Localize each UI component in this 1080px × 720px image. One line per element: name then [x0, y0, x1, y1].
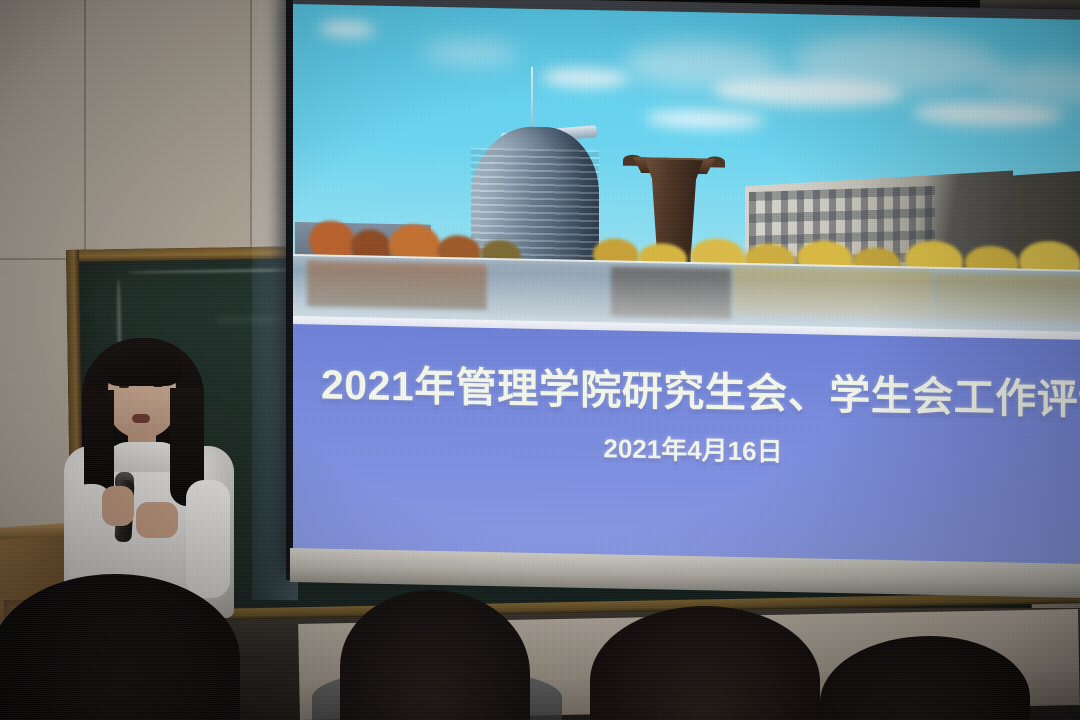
building-mast [531, 67, 533, 133]
cloud [541, 67, 629, 89]
slide-text-panel: 2021年管理学院研究生会、学生会工作评议会 2021年4月16日 [293, 324, 1080, 582]
water-reflection [489, 262, 609, 316]
water-reflection [307, 260, 487, 310]
cloud [423, 41, 519, 65]
water-reflection [733, 267, 933, 319]
water-reflection [611, 266, 731, 318]
cloud [983, 62, 1080, 105]
slide-photo [293, 4, 1080, 338]
presenter [58, 330, 238, 610]
wall-seam [84, 0, 86, 254]
presenter-hair-fringe [102, 344, 182, 386]
slide-content: 2021年管理学院研究生会、学生会工作评议会 2021年4月16日 [293, 0, 1080, 582]
slide-date: 2021年4月16日 [293, 422, 1080, 475]
presenter-mouth [132, 414, 150, 423]
wall-seam [250, 0, 252, 250]
presenter-hand-left [102, 486, 134, 526]
projection-screen: 2021年管理学院研究生会、学生会工作评议会 2021年4月16日 [293, 0, 1080, 582]
slide-title: 2021年管理学院研究生会、学生会工作评议会 [321, 351, 1080, 431]
water-reflection [935, 273, 1080, 322]
chalk-smudge [217, 317, 287, 323]
presenter-hand-right [136, 502, 178, 538]
photo-scene: 2021年管理学院研究生会、学生会工作评议会 2021年4月16日 [0, 0, 1080, 720]
cloud [319, 21, 375, 38]
cloud [913, 100, 1063, 127]
cloud [645, 109, 765, 129]
presenter-arm-right [186, 480, 230, 598]
